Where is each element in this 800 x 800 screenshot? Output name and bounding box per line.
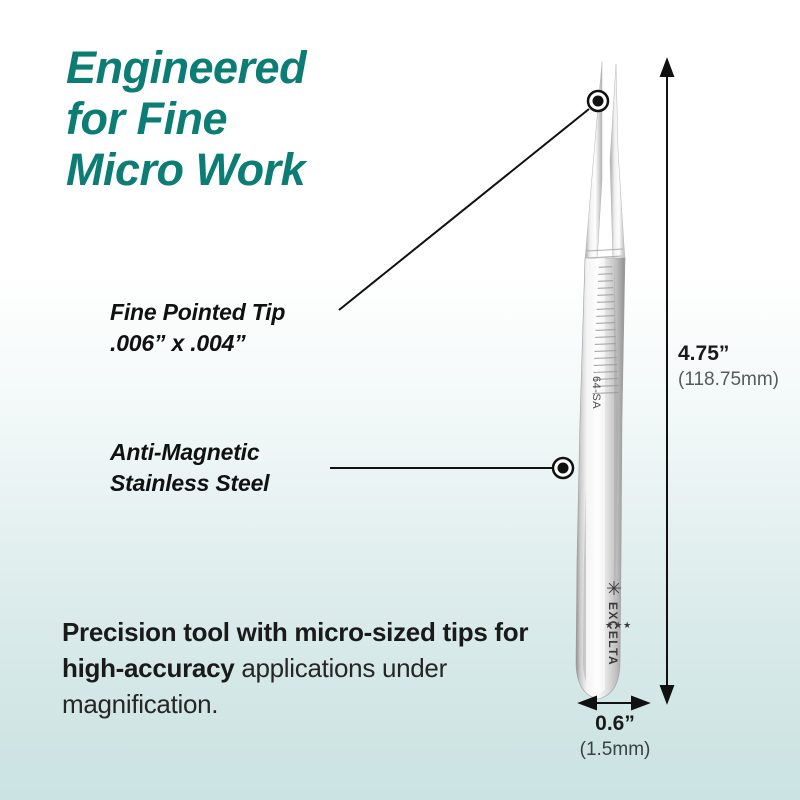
callout-marker-tip — [588, 91, 608, 111]
callout-fine-pointed-tip: Fine Pointed Tip .006” x .004” — [110, 297, 370, 359]
infographic-canvas: Engineered for Fine Micro Work Fine Poin… — [0, 0, 800, 800]
callout-anti-magnetic-stainless-steel: Anti-Magnetic Stainless Steel — [110, 437, 370, 499]
brand-three-stars-icon: ★★★ — [605, 620, 632, 631]
dimension-line-width — [580, 697, 648, 709]
tweezer-seam-lines — [587, 249, 623, 258]
tweezer-right-tine — [610, 64, 625, 262]
dimension-label-length: 4.75” (118.75mm) — [678, 341, 798, 392]
page-title: Engineered for Fine Micro Work — [66, 42, 466, 195]
tweezer-grip-knurling — [582, 266, 628, 394]
brand-star-icon: ✳ — [606, 580, 622, 599]
dimension-label-width: 0.6” (1.5mm) — [540, 711, 690, 762]
dimension-line-length — [661, 60, 673, 702]
dimension-width-metric: (1.5mm) — [540, 737, 690, 762]
dimension-width-value: 0.6” — [540, 711, 690, 737]
dimension-length-value: 4.75” — [678, 341, 798, 367]
summary-paragraph: Precision tool with micro-sized tips for… — [62, 614, 542, 722]
tweezer-left-tine — [585, 62, 602, 262]
callout-marker-steel — [553, 458, 573, 478]
product-model-number: 64-SA — [590, 376, 602, 409]
brand-mark: ✳ EXCELTA ★★★ — [600, 580, 634, 680]
brand-name-text: EXCELTA — [606, 602, 620, 666]
dimension-length-metric: (118.75mm) — [678, 367, 798, 392]
